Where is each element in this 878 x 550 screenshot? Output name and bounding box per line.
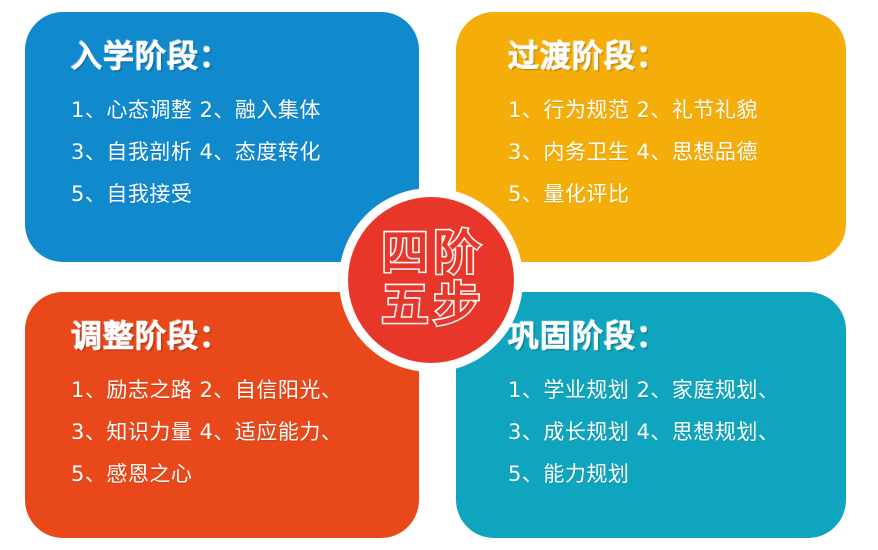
list-item: 1、行为规范 2、礼节礼貌 [508,89,832,131]
list-item: 3、内务卫生 4、思想品德 [508,131,832,173]
panel-enrollment-title: 入学阶段： [71,42,405,73]
list-item: 1、心态调整 2、融入集体 [71,89,405,131]
list-item: 5、量化评比 [508,173,832,215]
center-badge-ring: 四阶 五步 [339,188,523,372]
list-item: 5、自我接受 [71,173,405,215]
list-item: 1、学业规划 2、家庭规划、 [508,369,832,411]
panel-transition-list: 1、行为规范 2、礼节礼貌 3、内务卫生 4、思想品德 5、量化评比 [508,89,832,215]
panel-transition-stage: 过渡阶段： 1、行为规范 2、礼节礼貌 3、内务卫生 4、思想品德 5、量化评比 [456,12,846,262]
center-badge-line-1: 四阶 [377,230,486,278]
panel-enrollment-content: 入学阶段： 1、心态调整 2、融入集体 3、自我剖析 4、态度转化 5、自我接受 [25,42,419,215]
panel-enrollment-list: 1、心态调整 2、融入集体 3、自我剖析 4、态度转化 5、自我接受 [71,89,405,215]
panel-adjustment-content: 调整阶段： 1、励志之路 2、自信阳光、 3、知识力量 4、适应能力、 5、感恩… [25,322,419,495]
panel-transition-title: 过渡阶段： [508,42,832,73]
four-stages-five-steps-infographic: 入学阶段： 1、心态调整 2、融入集体 3、自我剖析 4、态度转化 5、自我接受… [0,0,878,550]
center-badge-line-2: 五步 [377,282,486,330]
list-item: 5、能力规划 [508,453,832,495]
center-badge-disc: 四阶 五步 [348,197,514,363]
panel-consolidation-stage: 巩固阶段： 1、学业规划 2、家庭规划、 3、成长规划 4、思想规划、 5、能力… [456,292,846,538]
list-item: 3、知识力量 4、适应能力、 [71,411,405,453]
list-item: 3、成长规划 4、思想规划、 [508,411,832,453]
list-item: 1、励志之路 2、自信阳光、 [71,369,405,411]
list-item: 5、感恩之心 [71,453,405,495]
list-item: 3、自我剖析 4、态度转化 [71,131,405,173]
panel-consolidation-content: 巩固阶段： 1、学业规划 2、家庭规划、 3、成长规划 4、思想规划、 5、能力… [456,322,846,495]
panel-adjustment-list: 1、励志之路 2、自信阳光、 3、知识力量 4、适应能力、 5、感恩之心 [71,369,405,495]
panel-consolidation-title: 巩固阶段： [508,322,832,353]
panel-transition-content: 过渡阶段： 1、行为规范 2、礼节礼貌 3、内务卫生 4、思想品德 5、量化评比 [456,42,846,215]
panel-consolidation-list: 1、学业规划 2、家庭规划、 3、成长规划 4、思想规划、 5、能力规划 [508,369,832,495]
